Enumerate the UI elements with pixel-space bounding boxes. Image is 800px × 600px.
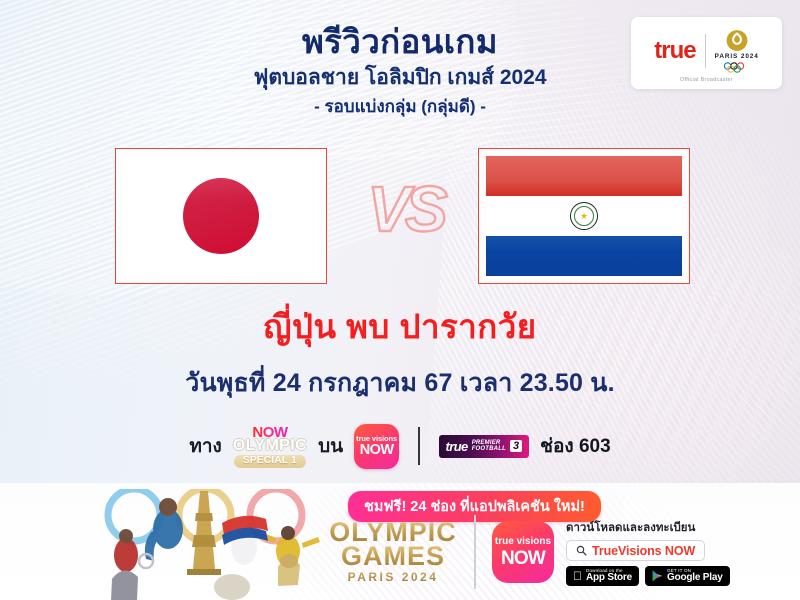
- now-text: NOW: [360, 443, 394, 458]
- app-store-button[interactable]:  Download on the App Store: [566, 566, 639, 586]
- apple-icon: : [573, 570, 582, 582]
- truevisions-text: true visions: [495, 537, 551, 547]
- store-badges:  Download on the App Store GET IT ON: [566, 566, 730, 586]
- google-play-button[interactable]: GET IT ON Google Play: [645, 566, 730, 586]
- bottom-banner: ชมฟรี! 24 ช่อง ที่แอปพลิเคชัน ใหม่! OLYM…: [0, 483, 800, 600]
- google-play-label: Google Play: [667, 573, 723, 584]
- paraguay-flag: ★: [478, 148, 690, 284]
- banner-divider: [474, 515, 476, 589]
- special1-badge: SPECIAL 1: [234, 455, 306, 468]
- title-block: พรีวิวก่อนเกม ฟุตบอลชาย โอลิมปิก เกมส์ 2…: [0, 24, 800, 118]
- promo-graphic: true PARIS 2024: [0, 0, 800, 600]
- search-value: TrueVisions NOW: [592, 544, 695, 558]
- olympic-games-wordmark: OLYMPIC GAMES PARIS 2024: [318, 519, 468, 583]
- match-date-time: วันพุธที่ 24 กรกฎาคม 67 เวลา 23.50 น.: [0, 363, 800, 403]
- on-label: บน: [318, 431, 343, 461]
- vs-label: VS: [355, 163, 455, 255]
- athletes-collage: [82, 483, 337, 600]
- true-text: true: [446, 439, 468, 454]
- title-subtitle: ฟุตบอลชาย โอลิมปิก เกมส์ 2024: [0, 65, 800, 90]
- truevisions-text: true visions: [356, 435, 397, 443]
- collage-figures: [82, 483, 337, 600]
- page-title: พรีวิวก่อนเกม: [0, 24, 800, 61]
- search-input[interactable]: TrueVisions NOW: [566, 540, 705, 561]
- title-stage: - รอบแบ่งกลุ่ม (กลุ่มดี) -: [0, 97, 800, 117]
- download-block: ดาวน์โหลดและลงทะเบียน TrueVisions NOW  …: [566, 519, 730, 586]
- search-icon: [576, 545, 587, 556]
- channel-number-badge: 3: [510, 440, 522, 452]
- paraguay-emblem-icon: ★: [570, 202, 598, 230]
- football-text: FOOTBALL: [472, 446, 506, 452]
- channel-divider: [418, 427, 419, 465]
- google-play-icon: [652, 570, 663, 582]
- games-word: GAMES: [318, 543, 468, 570]
- truevisions-now-app-icon-banner[interactable]: true visions NOW: [492, 521, 554, 583]
- now-text: NOW: [501, 549, 545, 568]
- paris-2024-word: PARIS 2024: [318, 571, 468, 583]
- true-premier-football-logo: true PREMIER FOOTBALL 3: [439, 435, 530, 458]
- via-label: ทาง: [189, 431, 221, 461]
- app-store-label: App Store: [586, 573, 632, 584]
- channel-label: ช่อง 603: [540, 431, 611, 461]
- teams-line: ญี่ปุ่น พบ ปารากวัย: [0, 300, 800, 353]
- download-label: ดาวน์โหลดและลงทะเบียน: [566, 519, 730, 537]
- olympic-text: OLYMPIC: [233, 438, 307, 454]
- channel-row: ทาง NOW OLYMPIC SPECIAL 1 บน true vision…: [0, 420, 800, 472]
- now-olympic-special-logo: NOW OLYMPIC SPECIAL 1: [233, 425, 307, 468]
- truevisions-now-app-icon[interactable]: true visions NOW: [354, 424, 399, 469]
- japan-flag: [115, 148, 327, 284]
